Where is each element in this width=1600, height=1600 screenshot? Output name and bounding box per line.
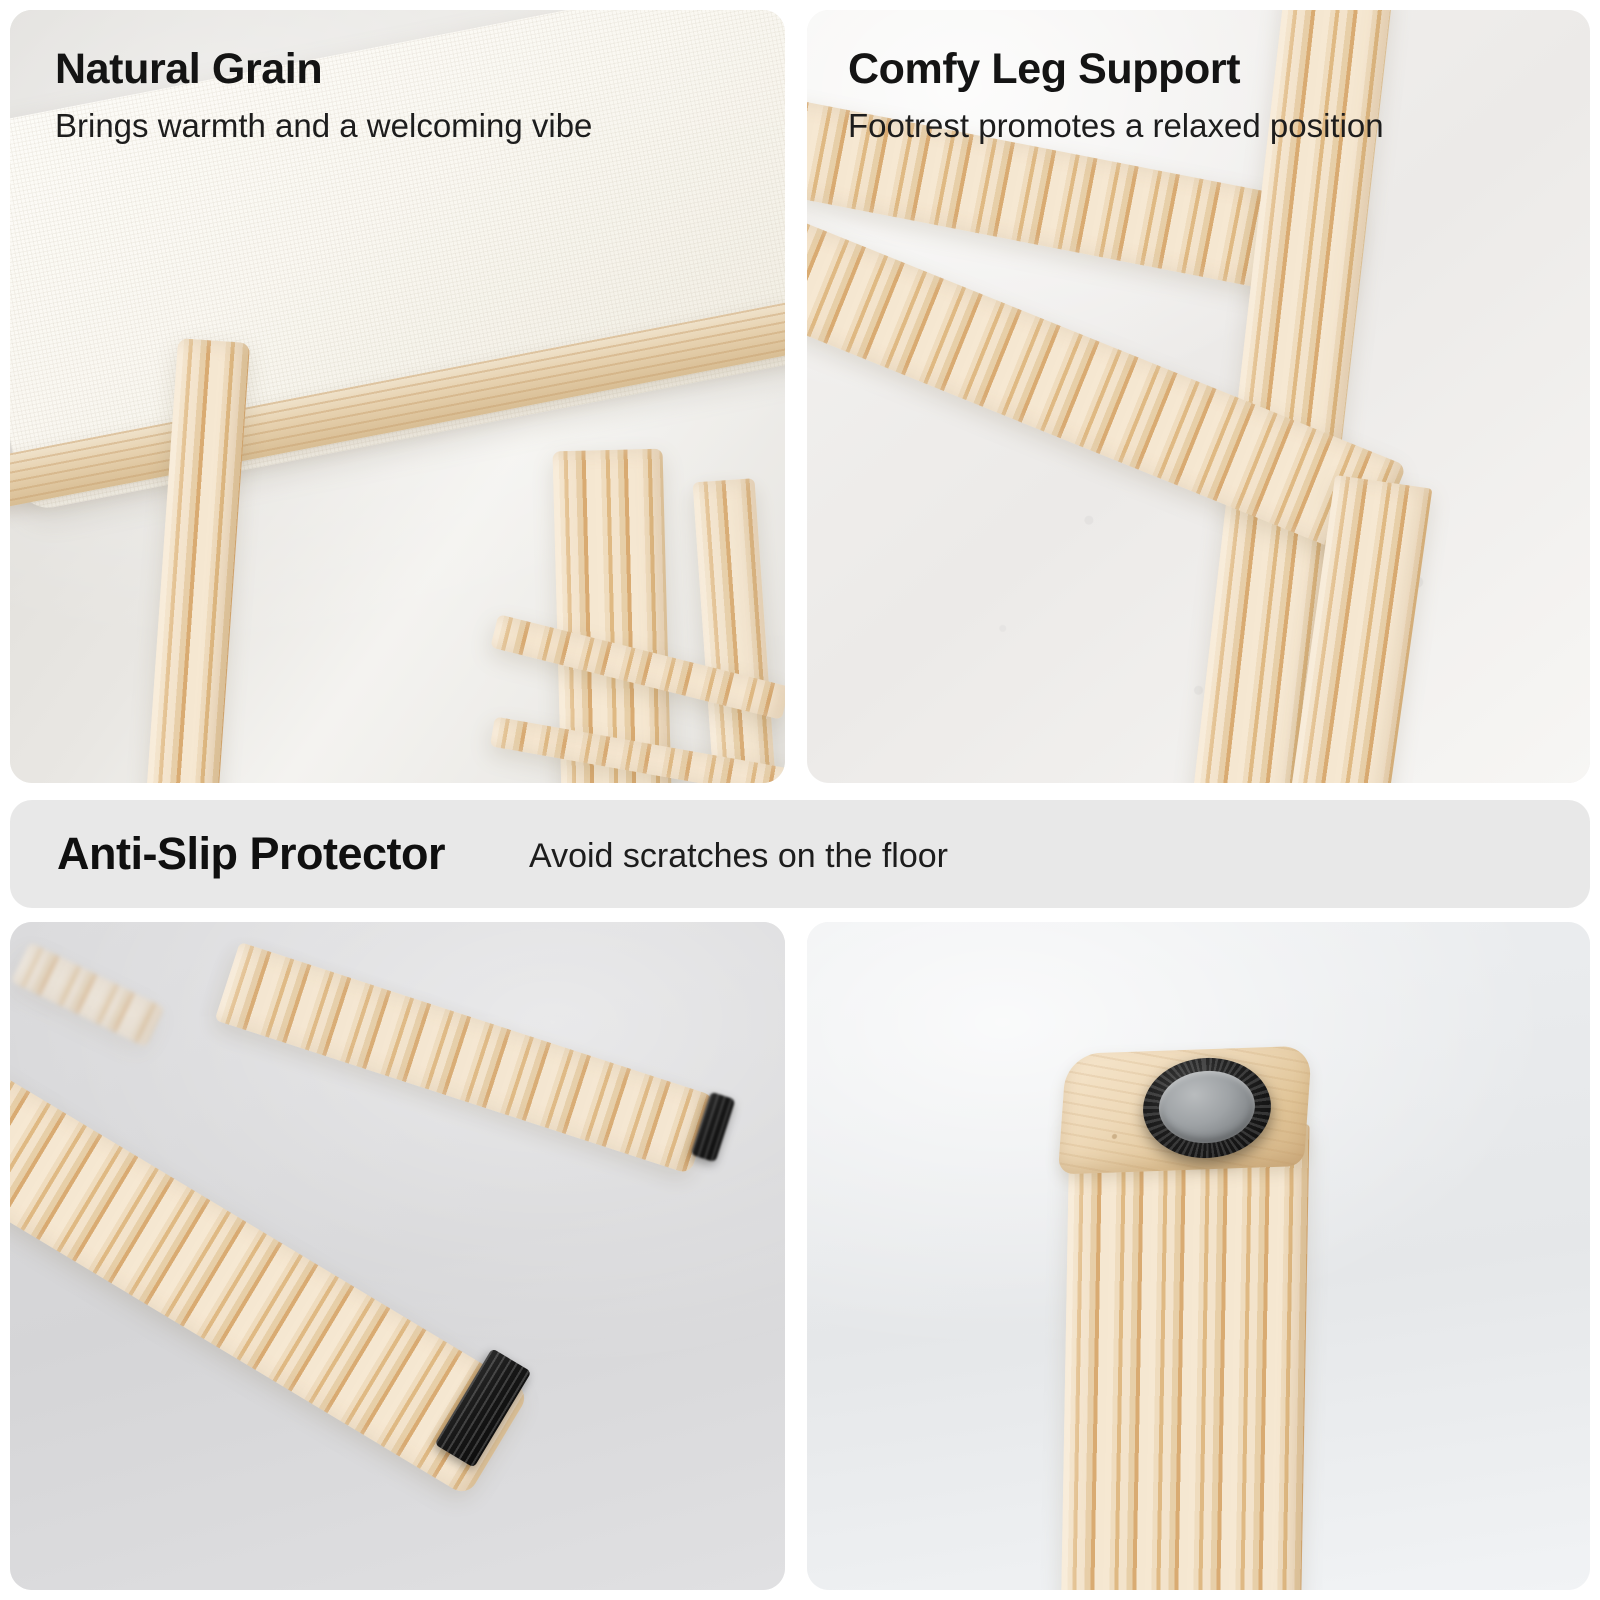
banner-title: Anti-Slip Protector bbox=[57, 828, 445, 880]
banner-text-row: Anti-Slip Protector Avoid scratches on t… bbox=[57, 800, 948, 908]
feature-panel-comfy-leg-support: Comfy Leg Support Footrest promotes a re… bbox=[807, 10, 1590, 783]
chair-leg-vertical bbox=[1060, 1120, 1309, 1590]
anti-slip-cap-metal-center bbox=[1157, 1068, 1258, 1147]
infographic-board: Natural Grain Brings warmth and a welcom… bbox=[0, 0, 1600, 1600]
feature-panel-natural-grain: Natural Grain Brings warmth and a welcom… bbox=[10, 10, 785, 783]
feature-panel-anti-slip-cap-detail bbox=[807, 922, 1590, 1590]
anti-slip-protector-banner: Anti-Slip Protector Avoid scratches on t… bbox=[10, 800, 1590, 908]
feature-panel-anti-slip-legs bbox=[10, 922, 785, 1590]
banner-subtitle: Avoid scratches on the floor bbox=[529, 837, 948, 876]
